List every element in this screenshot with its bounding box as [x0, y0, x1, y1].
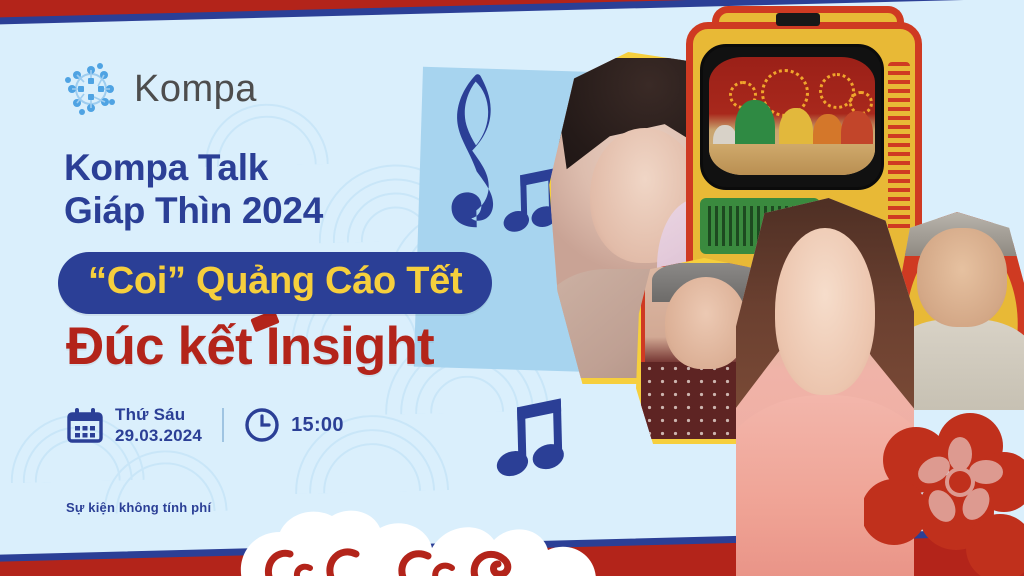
banner-canvas: Kompa Kompa Talk Giáp Thìn 2024 “Coi” Qu…	[0, 0, 1024, 576]
event-date-value: 29.03.2024	[115, 425, 202, 446]
brand-logo: Kompa	[62, 60, 257, 118]
kompa-network-circle-icon	[62, 60, 120, 118]
calendar-icon	[66, 406, 104, 444]
event-meta: Thứ Sáu 29.03.2024 15:00	[66, 404, 344, 447]
free-event-note: Sự kiện không tính phí	[66, 500, 211, 515]
music-eighth-notes-icon	[502, 168, 564, 235]
clock-icon	[244, 407, 280, 443]
subheading: Đúc kết Insight	[66, 316, 434, 377]
event-day-label: Thứ Sáu	[115, 404, 202, 425]
music-eighth-notes-icon	[495, 396, 571, 482]
title-line-1: Kompa Talk	[64, 146, 323, 189]
brand-wordmark: Kompa	[134, 68, 257, 111]
event-date-text: Thứ Sáu 29.03.2024	[115, 404, 202, 447]
meta-divider	[222, 408, 224, 442]
highlight-badge: “Coi” Quảng Cáo Tết	[58, 252, 492, 314]
title-line-2: Giáp Thìn 2024	[64, 189, 323, 232]
event-date-block: Thứ Sáu 29.03.2024	[66, 404, 202, 447]
event-time-block: 15:00	[244, 407, 344, 443]
page-title: Kompa Talk Giáp Thìn 2024	[64, 146, 323, 233]
event-time-value: 15:00	[291, 414, 344, 437]
